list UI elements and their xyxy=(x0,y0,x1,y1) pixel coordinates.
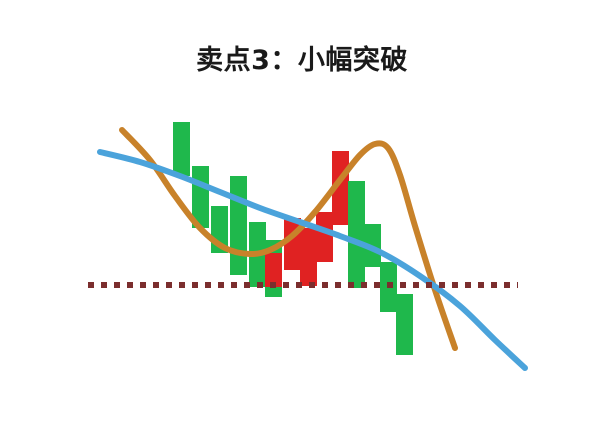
chart-canvas: 卖点3：小幅突破 xyxy=(0,0,604,427)
candle-up xyxy=(396,294,413,355)
candle-down xyxy=(300,228,317,286)
candle-down xyxy=(316,212,333,262)
candle-up xyxy=(173,122,190,176)
candle-up xyxy=(230,176,247,275)
candle-down xyxy=(332,151,349,225)
candle-up xyxy=(364,224,381,267)
candlestick-plot-area xyxy=(0,0,604,427)
candle-up xyxy=(211,206,228,253)
candle-up xyxy=(348,181,365,288)
candle-up xyxy=(249,222,266,287)
candle-up xyxy=(380,262,397,312)
candle-down xyxy=(265,253,282,287)
candle-up xyxy=(192,166,209,228)
candle-down xyxy=(284,218,301,270)
